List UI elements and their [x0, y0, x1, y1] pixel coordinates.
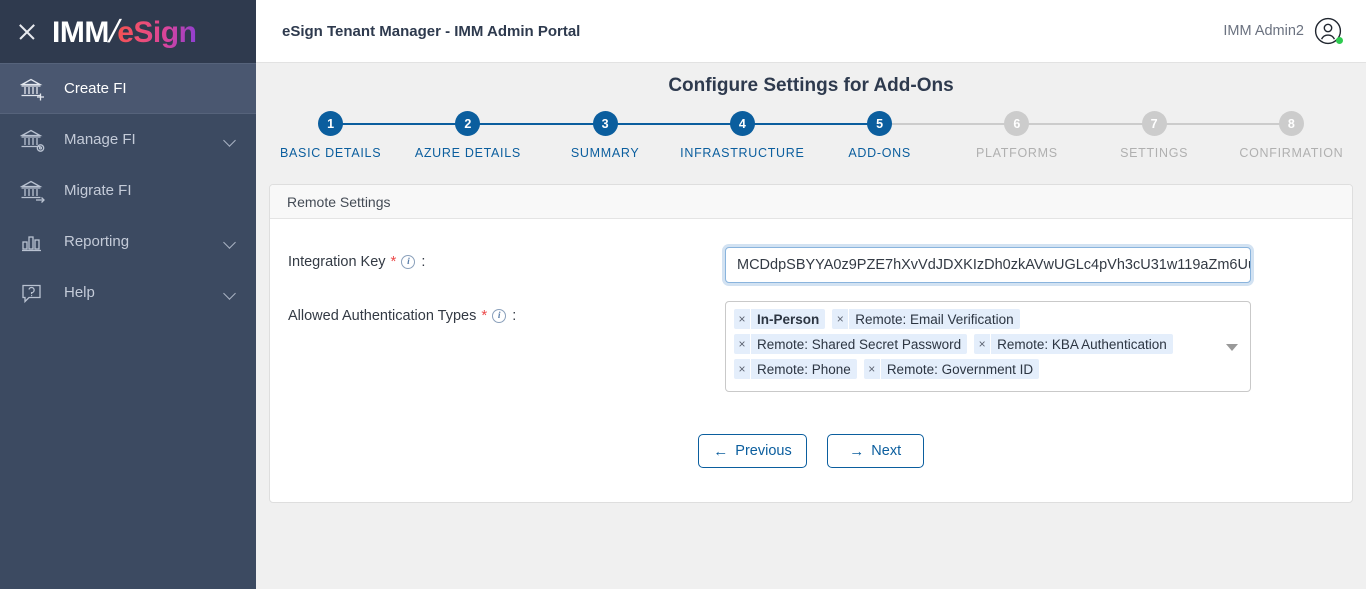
- tag-remote-shared-secret-password[interactable]: × Remote: Shared Secret Password: [734, 334, 967, 354]
- required-asterisk: *: [481, 307, 487, 324]
- tag-label: In-Person: [751, 309, 825, 329]
- page-title: Configure Settings for Add-Ons: [256, 63, 1366, 97]
- step-label: ADD-ONS: [848, 146, 911, 160]
- close-icon[interactable]: ×: [832, 309, 849, 329]
- top-bar: eSign Tenant Manager - IMM Admin Portal …: [256, 0, 1366, 63]
- step-settings[interactable]: 7 SETTINGS: [1086, 111, 1223, 160]
- remote-settings-panel: Remote Settings Integration Key * i : MC…: [269, 184, 1353, 503]
- sidebar-item-label: Create FI: [64, 80, 127, 97]
- auth-types-label: Allowed Authentication Types * i :: [288, 301, 725, 324]
- integration-key-input[interactable]: MCDdpSBYYA0z9PZE7hXvVdJDXKIzDh0zkAVwUGLc…: [725, 247, 1251, 283]
- tag-line: × Remote: Phone × Remote: Government ID: [734, 359, 1220, 379]
- previous-button-label: Previous: [735, 443, 791, 459]
- auth-types-label-text: Allowed Authentication Types: [288, 308, 476, 324]
- help-question-icon: [18, 280, 48, 306]
- step-number: 7: [1142, 111, 1167, 136]
- sidebar-item-label: Manage FI: [64, 131, 136, 148]
- panel-header-title: Remote Settings: [270, 185, 1352, 219]
- step-label: INFRASTRUCTURE: [680, 146, 804, 160]
- step-label: SUMMARY: [571, 146, 640, 160]
- integration-key-label: Integration Key * i :: [288, 247, 725, 270]
- step-connector: [742, 123, 879, 125]
- step-basic-details[interactable]: 1 BASIC DETAILS: [262, 111, 399, 160]
- next-button[interactable]: → Next: [827, 434, 924, 468]
- integration-key-row: Integration Key * i : MCDdpSBYYA0z9PZE7h…: [270, 247, 1352, 283]
- step-number: 8: [1279, 111, 1304, 136]
- close-icon[interactable]: [16, 21, 38, 43]
- label-colon: :: [512, 308, 516, 324]
- integration-key-label-text: Integration Key: [288, 254, 386, 270]
- label-colon: :: [421, 254, 425, 270]
- auth-types-row: Allowed Authentication Types * i : × In-: [270, 301, 1352, 392]
- step-connector: [468, 123, 605, 125]
- logo-esign-text: eSign: [117, 18, 196, 48]
- sidebar-item-label: Reporting: [64, 233, 129, 250]
- chevron-down-icon[interactable]: [1226, 344, 1238, 351]
- step-platforms[interactable]: 6 PLATFORMS: [948, 111, 1085, 160]
- previous-button[interactable]: ← Previous: [698, 434, 806, 468]
- close-icon[interactable]: ×: [734, 359, 751, 379]
- sidebar-brand: IMM/eSign: [0, 0, 256, 63]
- integration-key-field-area: MCDdpSBYYA0z9PZE7hXvVdJDXKIzDh0zkAVwUGLc…: [725, 247, 1334, 283]
- tag-remote-email-verification[interactable]: × Remote: Email Verification: [832, 309, 1019, 329]
- tag-remote-kba-authentication[interactable]: × Remote: KBA Authentication: [974, 334, 1173, 354]
- step-label: PLATFORMS: [976, 146, 1058, 160]
- user-name-label: IMM Admin2: [1223, 23, 1304, 39]
- tag-label: Remote: Phone: [751, 359, 857, 379]
- step-number: 2: [455, 111, 480, 136]
- step-label: CONFIRMATION: [1239, 146, 1343, 160]
- info-circle-icon[interactable]: i: [492, 309, 506, 323]
- tag-label: Remote: Shared Secret Password: [751, 334, 967, 354]
- chevron-down-icon[interactable]: [223, 287, 236, 300]
- avatar[interactable]: [1314, 17, 1342, 45]
- online-status-dot: [1336, 37, 1343, 44]
- sidebar-item-manage-fi[interactable]: Manage FI: [0, 114, 256, 165]
- next-button-label: Next: [871, 443, 901, 459]
- step-azure-details[interactable]: 2 AZURE DETAILS: [399, 111, 536, 160]
- step-number: 4: [730, 111, 755, 136]
- panel-body: Integration Key * i : MCDdpSBYYA0z9PZE7h…: [270, 219, 1352, 502]
- bank-arrow-icon: [18, 178, 48, 204]
- tag-label: Remote: KBA Authentication: [991, 334, 1173, 354]
- imm-esign-logo: IMM/eSign: [52, 15, 196, 48]
- sidebar: IMM/eSign Create FI: [0, 0, 256, 589]
- chevron-down-icon[interactable]: [223, 236, 236, 249]
- step-add-ons[interactable]: 5 ADD-ONS: [811, 111, 948, 160]
- step-connector: [880, 123, 1017, 125]
- content-area: Configure Settings for Add-Ons 1 BASIC D…: [256, 63, 1366, 589]
- step-label: AZURE DETAILS: [415, 146, 521, 160]
- tag-line: × In-Person × Remote: Email Verification: [734, 309, 1220, 329]
- chevron-down-icon[interactable]: [223, 134, 236, 147]
- step-connector: [1154, 123, 1291, 125]
- tag-label: Remote: Government ID: [881, 359, 1039, 379]
- step-summary[interactable]: 3 SUMMARY: [537, 111, 674, 160]
- wizard-stepper: 1 BASIC DETAILS 2 AZURE DETAILS 3 SUMMAR…: [262, 111, 1360, 160]
- tag-remote-government-id[interactable]: × Remote: Government ID: [864, 359, 1039, 379]
- step-label: BASIC DETAILS: [280, 146, 381, 160]
- wizard-button-row: ← Previous → Next: [270, 434, 1352, 468]
- close-icon[interactable]: ×: [864, 359, 881, 379]
- app-root: IMM/eSign Create FI: [0, 0, 1366, 589]
- step-infrastructure[interactable]: 4 INFRASTRUCTURE: [674, 111, 811, 160]
- step-number: 1: [318, 111, 343, 136]
- step-number: 3: [593, 111, 618, 136]
- step-connector: [1017, 123, 1154, 125]
- sidebar-item-migrate-fi[interactable]: Migrate FI: [0, 165, 256, 216]
- step-connector: [605, 123, 742, 125]
- close-icon[interactable]: ×: [734, 309, 751, 329]
- tag-label: Remote: Email Verification: [849, 309, 1019, 329]
- sidebar-item-reporting[interactable]: Reporting: [0, 216, 256, 267]
- app-title: eSign Tenant Manager - IMM Admin Portal: [282, 23, 580, 40]
- step-number: 5: [867, 111, 892, 136]
- tag-remote-phone[interactable]: × Remote: Phone: [734, 359, 857, 379]
- bank-add-icon: [18, 76, 48, 102]
- auth-types-multiselect[interactable]: × In-Person × Remote: Email Verification: [725, 301, 1251, 392]
- bar-chart-icon: [18, 229, 48, 255]
- info-circle-icon[interactable]: i: [401, 255, 415, 269]
- sidebar-item-label: Help: [64, 284, 95, 301]
- close-icon[interactable]: ×: [734, 334, 751, 354]
- sidebar-item-create-fi[interactable]: Create FI: [0, 63, 256, 114]
- sidebar-item-help[interactable]: Help: [0, 267, 256, 318]
- step-label: SETTINGS: [1120, 146, 1188, 160]
- step-number: 6: [1004, 111, 1029, 136]
- close-icon[interactable]: ×: [974, 334, 991, 354]
- arrow-left-icon: ←: [713, 444, 728, 459]
- logo-imm-text: IMM: [52, 18, 109, 48]
- top-bar-right: IMM Admin2: [1223, 17, 1342, 45]
- step-connector: [331, 123, 468, 125]
- tag-in-person[interactable]: × In-Person: [734, 309, 825, 329]
- sidebar-item-label: Migrate FI: [64, 182, 132, 199]
- main-area: eSign Tenant Manager - IMM Admin Portal …: [256, 0, 1366, 589]
- step-confirmation[interactable]: 8 CONFIRMATION: [1223, 111, 1360, 160]
- required-asterisk: *: [391, 253, 397, 270]
- auth-types-field-area: × In-Person × Remote: Email Verification: [725, 301, 1334, 392]
- tag-line: × Remote: Shared Secret Password × Remot…: [734, 334, 1220, 354]
- bank-gear-icon: [18, 127, 48, 153]
- arrow-right-icon: →: [849, 444, 864, 459]
